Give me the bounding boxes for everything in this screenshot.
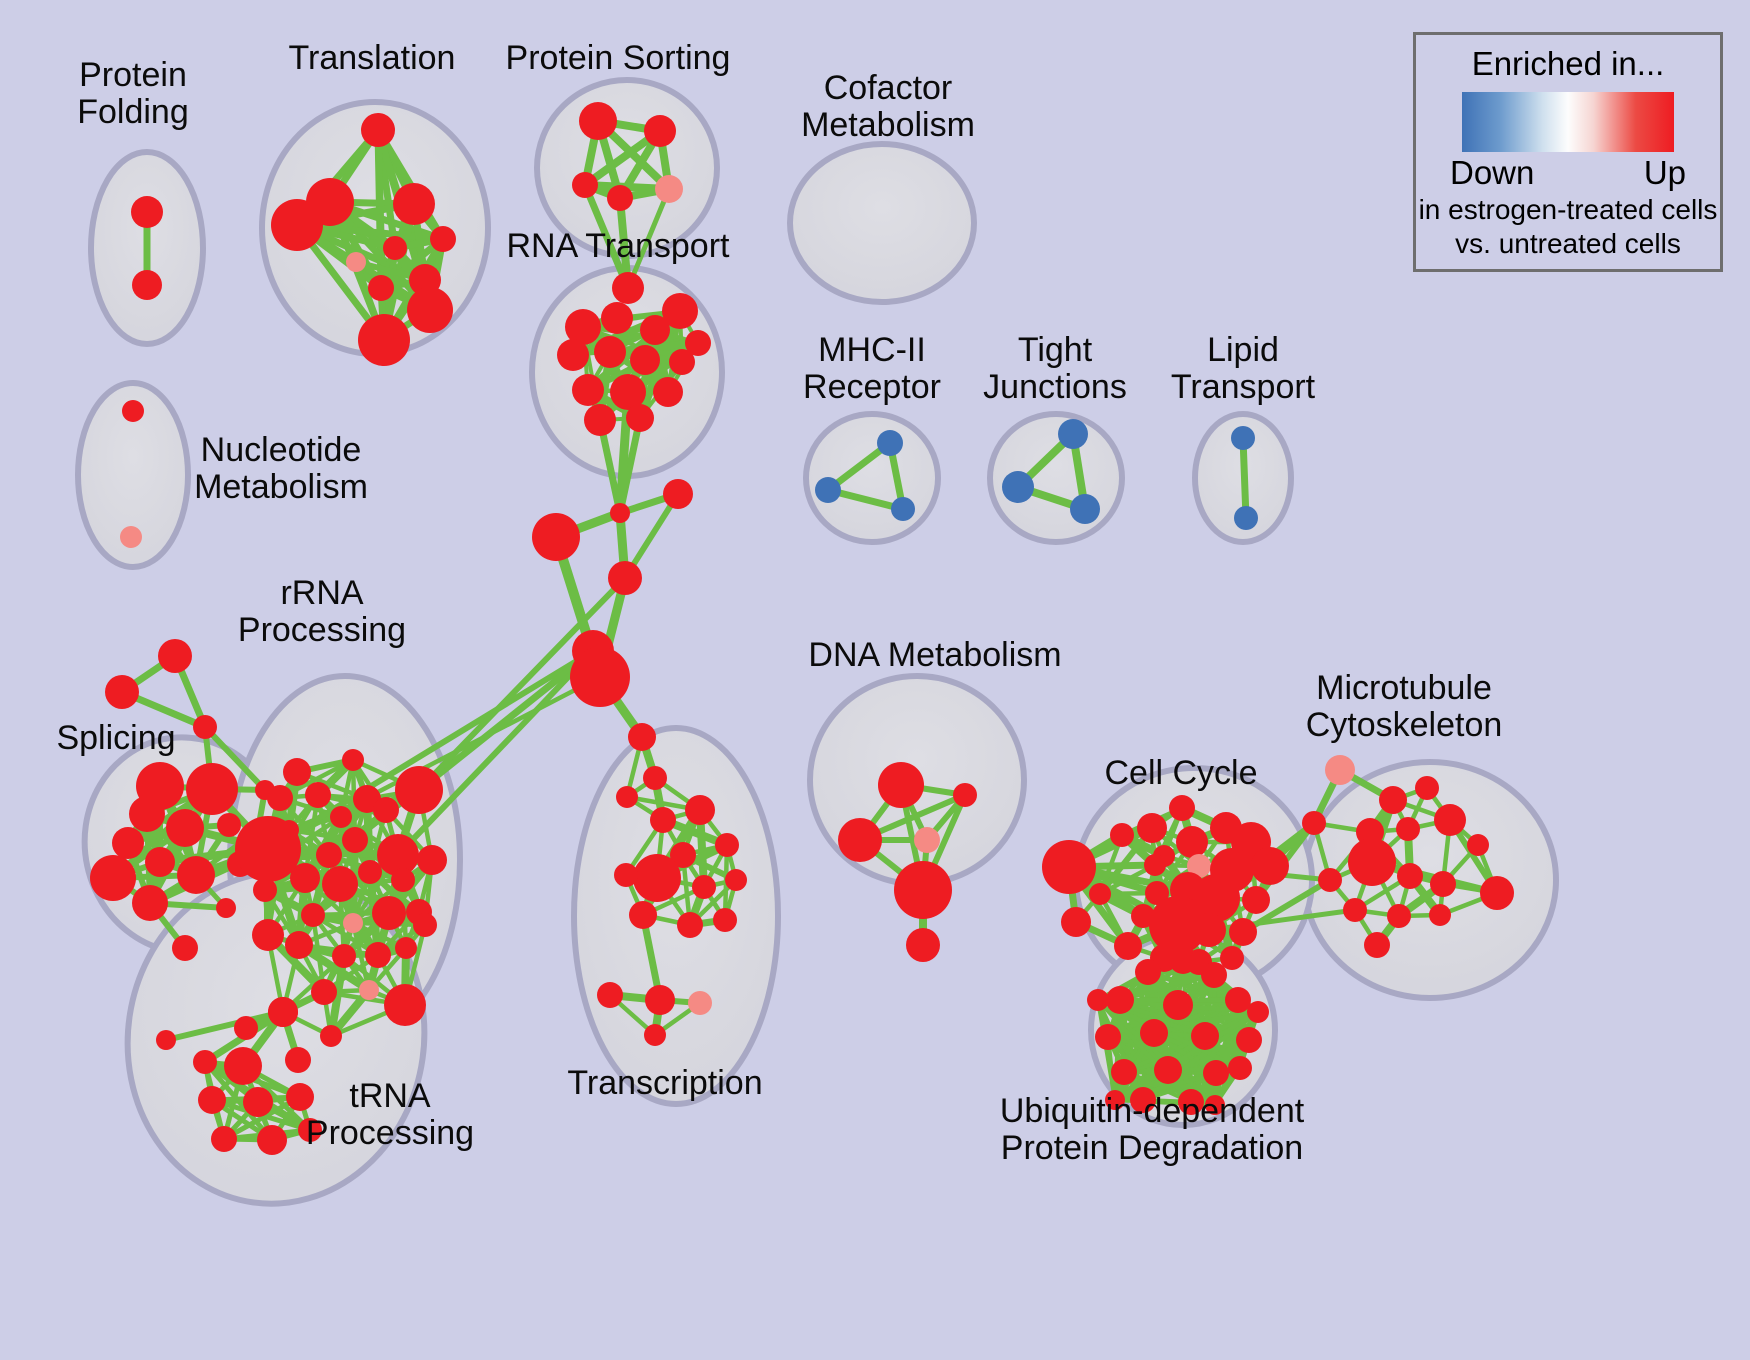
- network-node: [1201, 962, 1227, 988]
- network-node: [1089, 883, 1111, 905]
- network-node: [105, 675, 139, 709]
- network-node: [358, 314, 410, 366]
- network-node: [669, 349, 695, 375]
- network-node: [838, 818, 882, 862]
- network-node: [653, 377, 683, 407]
- network-node: [305, 782, 331, 808]
- network-node: [145, 847, 175, 877]
- network-node: [630, 345, 660, 375]
- network-node: [1110, 823, 1134, 847]
- network-node: [172, 935, 198, 961]
- enrichment-map-figure: Protein Folding Translation Protein Sort…: [0, 0, 1750, 1360]
- network-node: [186, 763, 238, 815]
- network-node: [532, 513, 580, 561]
- network-node: [1396, 817, 1420, 841]
- network-node: [285, 1047, 311, 1073]
- network-node: [713, 908, 737, 932]
- cluster-label-splicing: Splicing: [56, 720, 175, 757]
- network-node: [359, 980, 379, 1000]
- network-node: [311, 979, 337, 1005]
- network-node: [1061, 907, 1091, 937]
- cluster-label-rrna-processing: rRNA Processing: [238, 575, 406, 648]
- cluster-label-mhc-ii-receptor: MHC-II Receptor: [803, 332, 941, 405]
- network-node: [252, 919, 284, 951]
- network-node: [132, 885, 168, 921]
- network-node: [570, 647, 630, 707]
- network-node: [417, 845, 447, 875]
- network-node: [643, 766, 667, 790]
- legend-caption-line1: in estrogen-treated cells: [1416, 194, 1720, 226]
- network-node: [383, 236, 407, 260]
- network-node: [1154, 1056, 1182, 1084]
- cluster-label-microtubule: Microtubule Cytoskeleton: [1306, 670, 1503, 743]
- network-node: [131, 196, 163, 228]
- network-node: [1002, 471, 1034, 503]
- network-node: [1095, 1024, 1121, 1050]
- network-node: [129, 796, 165, 832]
- network-node: [342, 827, 368, 853]
- network-node: [316, 842, 342, 868]
- network-node: [1348, 838, 1396, 886]
- network-node: [1434, 804, 1466, 836]
- network-node: [224, 1047, 262, 1085]
- network-node: [346, 252, 366, 272]
- network-node: [358, 860, 382, 884]
- network-node: [1343, 898, 1367, 922]
- network-node: [677, 912, 703, 938]
- network-node: [132, 270, 162, 300]
- network-node: [584, 404, 616, 436]
- network-node: [193, 1050, 217, 1074]
- network-node: [1397, 863, 1423, 889]
- network-node: [655, 175, 683, 203]
- network-node: [112, 827, 144, 859]
- network-node: [608, 561, 642, 595]
- network-node: [626, 404, 654, 432]
- network-node: [158, 639, 192, 673]
- network-node: [572, 374, 604, 406]
- network-node: [1251, 847, 1289, 885]
- network-node: [914, 827, 940, 853]
- legend-title: Enriched in...: [1416, 45, 1720, 83]
- network-node: [271, 199, 323, 251]
- network-node: [156, 1030, 176, 1050]
- network-node: [342, 749, 364, 771]
- network-node: [166, 809, 204, 847]
- network-node: [878, 762, 924, 808]
- network-node: [1087, 989, 1109, 1011]
- network-node: [1176, 826, 1208, 858]
- network-node: [1242, 886, 1270, 914]
- hull-cofactor: [790, 144, 974, 302]
- network-node: [1415, 776, 1439, 800]
- network-node: [1318, 868, 1342, 892]
- network-node: [365, 942, 391, 968]
- network-node: [384, 984, 426, 1026]
- network-node: [1234, 506, 1258, 530]
- legend-caption-line2: vs. untreated cells: [1416, 228, 1720, 260]
- network-node: [395, 766, 443, 814]
- network-node: [257, 1125, 287, 1155]
- network-node: [1430, 871, 1456, 897]
- cluster-label-cofactor-metabolism: Cofactor Metabolism: [801, 70, 975, 143]
- network-node: [393, 183, 435, 225]
- network-node: [198, 1086, 226, 1114]
- network-node: [243, 1087, 273, 1117]
- network-node: [1480, 876, 1514, 910]
- network-node: [177, 856, 215, 894]
- network-node: [217, 813, 241, 837]
- legend-high-label: Up: [1644, 154, 1686, 192]
- network-node: [1137, 813, 1167, 843]
- network-node: [1236, 1027, 1262, 1053]
- network-node: [663, 479, 693, 509]
- network-node: [1058, 419, 1088, 449]
- network-node: [1364, 932, 1390, 958]
- cluster-label-ubiquitin: Ubiquitin-dependent Protein Degradation: [1000, 1093, 1304, 1166]
- network-node: [1111, 1059, 1137, 1085]
- network-node: [322, 866, 358, 902]
- network-node: [1106, 986, 1134, 1014]
- network-node: [373, 797, 399, 823]
- network-node: [557, 339, 589, 371]
- network-node: [629, 901, 657, 929]
- edge: [1243, 438, 1246, 518]
- network-node: [1387, 904, 1411, 928]
- network-node: [332, 944, 356, 968]
- network-node: [1191, 1022, 1219, 1050]
- network-node: [1379, 786, 1407, 814]
- network-node: [688, 991, 712, 1015]
- cluster-label-protein-sorting: Protein Sorting: [506, 40, 731, 77]
- network-node: [361, 113, 395, 147]
- network-node: [612, 272, 644, 304]
- cluster-label-protein-folding: Protein Folding: [77, 57, 189, 130]
- network-node: [1144, 854, 1166, 876]
- network-node: [120, 526, 142, 548]
- network-node: [1225, 987, 1251, 1013]
- network-node: [395, 937, 417, 959]
- network-node: [815, 477, 841, 503]
- network-node: [235, 816, 301, 882]
- network-node: [268, 997, 298, 1027]
- network-node: [610, 503, 630, 523]
- network-node: [633, 854, 681, 902]
- network-node: [692, 875, 716, 899]
- cluster-label-rna-transport: RNA Transport: [507, 228, 730, 265]
- network-node: [1203, 1060, 1229, 1086]
- network-node: [216, 898, 236, 918]
- cluster-label-lipid-transport: Lipid Transport: [1171, 332, 1315, 405]
- network-node: [644, 1024, 666, 1046]
- network-node: [601, 302, 633, 334]
- cluster-label-nucleotide-metabolism: Nucleotide Metabolism: [194, 432, 368, 505]
- network-node: [1229, 918, 1257, 946]
- network-node: [1429, 904, 1451, 926]
- network-node: [877, 430, 903, 456]
- hull-transcription: [574, 728, 778, 1104]
- network-node: [283, 758, 311, 786]
- network-node: [594, 336, 626, 368]
- network-node: [616, 786, 638, 808]
- network-node: [579, 102, 617, 140]
- network-node: [122, 400, 144, 422]
- cluster-label-trna-processing: tRNA Processing: [306, 1078, 474, 1151]
- network-node: [1114, 932, 1142, 960]
- network-node: [1070, 494, 1100, 524]
- network-node: [1302, 811, 1326, 835]
- network-node: [330, 806, 352, 828]
- network-node: [640, 315, 670, 345]
- network-node: [1467, 834, 1489, 856]
- network-node: [1163, 990, 1193, 1020]
- network-node: [891, 497, 915, 521]
- network-node: [1247, 1001, 1269, 1023]
- network-node: [413, 913, 437, 937]
- cluster-label-cell-cycle: Cell Cycle: [1104, 755, 1257, 792]
- network-node: [906, 928, 940, 962]
- network-node: [1192, 913, 1226, 947]
- network-node: [685, 795, 715, 825]
- network-node: [607, 185, 633, 211]
- network-node: [650, 807, 676, 833]
- network-node: [430, 226, 456, 252]
- network-node: [715, 833, 739, 857]
- cluster-label-translation: Translation: [289, 40, 456, 77]
- legend-low-label: Down: [1450, 154, 1534, 192]
- cluster-label-tight-junctions: Tight Junctions: [983, 332, 1127, 405]
- network-node: [1325, 755, 1355, 785]
- network-node: [1042, 840, 1096, 894]
- network-node: [407, 287, 453, 333]
- network-node: [372, 896, 406, 930]
- network-node: [368, 275, 394, 301]
- network-node: [320, 1025, 342, 1047]
- network-node: [1231, 426, 1255, 450]
- network-node: [1228, 1056, 1252, 1080]
- network-node: [90, 855, 136, 901]
- network-node: [953, 783, 977, 807]
- network-node: [343, 913, 363, 933]
- network-node: [628, 723, 656, 751]
- network-node: [234, 1016, 258, 1040]
- network-node: [285, 931, 313, 959]
- network-node: [1169, 795, 1195, 821]
- cluster-label-dna-metabolism: DNA Metabolism: [808, 637, 1061, 674]
- cluster-label-transcription: Transcription: [567, 1065, 762, 1102]
- network-node: [1135, 959, 1161, 985]
- network-node: [644, 115, 676, 147]
- network-node: [725, 869, 747, 891]
- network-node: [645, 985, 675, 1015]
- network-node: [267, 785, 293, 811]
- legend-box: Enriched in... Down Up in estrogen-treat…: [1413, 32, 1723, 272]
- network-node: [1140, 1019, 1168, 1047]
- network-node: [572, 172, 598, 198]
- network-node: [391, 868, 415, 892]
- network-node: [894, 861, 952, 919]
- network-node: [211, 1126, 237, 1152]
- legend-color-bar: [1462, 92, 1674, 152]
- network-node: [193, 715, 217, 739]
- network-node: [301, 903, 325, 927]
- network-node: [1169, 946, 1197, 974]
- network-node: [597, 982, 623, 1008]
- network-node: [614, 863, 638, 887]
